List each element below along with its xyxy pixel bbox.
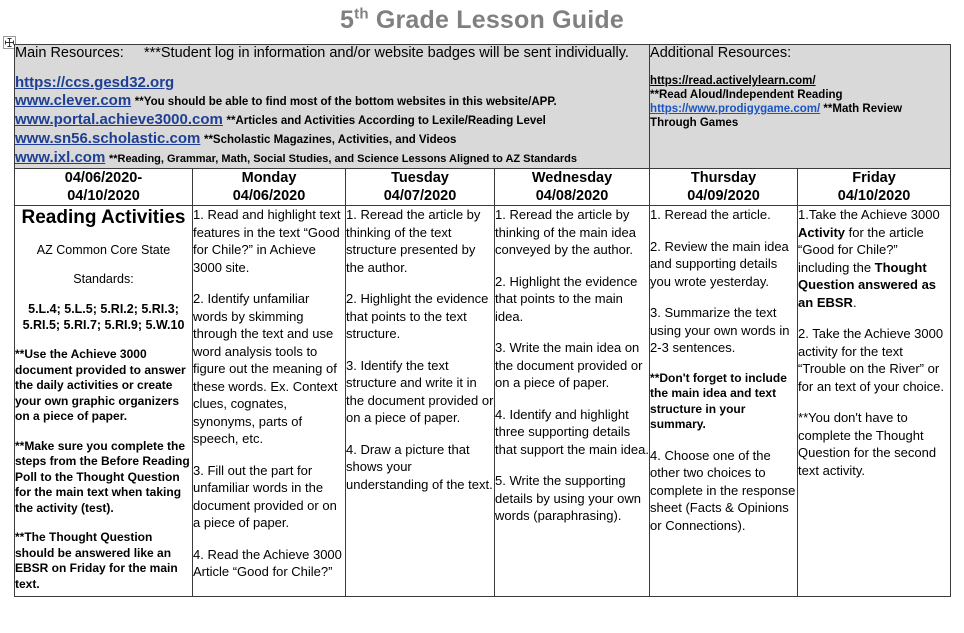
header-week-range-line1: 04/06/2020- [15, 169, 192, 187]
tuesday-cell: 1. Reread the article by thinking of the… [346, 206, 495, 597]
header-monday: Monday 04/06/2020 [193, 169, 346, 206]
resource-link-ixl[interactable]: www.ixl.com [15, 149, 105, 166]
resource-note-scholastic: **Scholastic Magazines, Activities, and … [204, 134, 456, 146]
day-header-row: 04/06/2020- 04/10/2020 Monday 04/06/2020… [15, 169, 951, 206]
tuesday-item-0: 1. Reread the article by thinking of the… [346, 206, 494, 276]
standards-subtitle-line1: AZ Common Core State [15, 243, 192, 258]
monday-item-1: 2. Identify unfamiliar words by skimming… [193, 290, 345, 448]
header-thursday: Thursday 04/09/2020 [650, 169, 798, 206]
page-title-rest: Grade Lesson Guide [369, 6, 624, 34]
thursday-item-1: 2. Review the main idea and supporting d… [650, 238, 797, 291]
additional-note-1: **Read Aloud/Independent Reading [650, 88, 950, 102]
wednesday-item-0: 1. Reread the article by thinking of the… [495, 206, 649, 259]
header-thursday-day: Thursday [650, 169, 797, 187]
header-week-range: 04/06/2020- 04/10/2020 [15, 169, 193, 206]
lesson-guide-table: Main Resources: ***Student log in inform… [14, 44, 951, 597]
resource-link-scholastic[interactable]: www.sn56.scholastic.com [15, 130, 200, 147]
standards-cell: Reading Activities AZ Common Core State … [15, 206, 193, 597]
thursday-cell: 1. Reread the article. 2. Review the mai… [650, 206, 798, 597]
additional-resources-body: https://read.activelylearn.com/ **Read A… [650, 74, 950, 130]
wednesday-item-3: 4. Identify and highlight three supporti… [495, 406, 649, 459]
main-resources-cell: Main Resources: ***Student log in inform… [15, 45, 650, 169]
wednesday-cell: 1. Reread the article by thinking of the… [495, 206, 650, 597]
thursday-item-0: 1. Reread the article. [650, 206, 797, 224]
resource-line-0: https://ccs.gesd32.org [15, 74, 649, 92]
resource-link-ccs-gesd32[interactable]: https://ccs.gesd32.org [15, 74, 174, 91]
standards-note-1: **Make sure you complete the steps from … [15, 439, 192, 517]
resource-line-3: www.sn56.scholastic.com **Scholastic Mag… [15, 130, 649, 149]
monday-item-3: 4. Read the Achieve 3000 Article “Good f… [193, 546, 345, 581]
main-resources-note: ***Student log in information and/or web… [144, 45, 629, 61]
tuesday-item-2: 3. Identify the text structure and write… [346, 357, 494, 427]
resource-line-1: www.clever.com **You should be able to f… [15, 92, 649, 111]
header-tuesday-day: Tuesday [346, 169, 494, 187]
tuesday-item-1: 2. Highlight the evidence that points to… [346, 290, 494, 343]
resource-link-clever[interactable]: www.clever.com [15, 92, 131, 109]
page-title-ordinal: th [354, 6, 369, 23]
thursday-item-3: 4. Choose one of the other two choices t… [650, 447, 797, 535]
header-tuesday: Tuesday 04/07/2020 [346, 169, 495, 206]
resource-note-achieve3000: **Articles and Activities According to L… [227, 115, 546, 127]
additional-note-2: **Math Review [823, 103, 902, 115]
main-resources-heading-line: Main Resources: ***Student log in inform… [15, 45, 649, 62]
header-wednesday-date: 04/08/2020 [495, 187, 649, 205]
friday-item-0: 1.Take the Achieve 3000 Activity for the… [798, 206, 950, 311]
standards-codes-line2: 5.RI.5; 5.RI.7; 5.RI.9; 5.W.10 [23, 318, 185, 332]
tuesday-item-3: 4. Draw a picture that shows your unders… [346, 441, 494, 494]
day-content-row: Reading Activities AZ Common Core State … [15, 206, 951, 597]
wednesday-item-2: 3. Write the main idea on the document p… [495, 339, 649, 392]
header-monday-date: 04/06/2020 [193, 187, 345, 205]
friday-item-2: **You don't have to complete the Thought… [798, 409, 950, 479]
monday-item-2: 3. Fill out the part for unfamiliar word… [193, 462, 345, 532]
wednesday-item-1: 2. Highlight the evidence that points to… [495, 273, 649, 326]
lesson-guide-page: 5th Grade Lesson Guide [0, 0, 964, 633]
header-friday: Friday 04/10/2020 [798, 169, 951, 206]
standards-title: Reading Activities [15, 206, 192, 229]
standards-note-2: **The Thought Question should be answere… [15, 530, 192, 592]
additional-link-row-1: https://read.activelylearn.com/ [650, 74, 950, 88]
additional-resources-heading: Additional Resources: [650, 45, 950, 62]
friday-item-0-part-a: 1.Take the Achieve 3000 [798, 207, 940, 222]
resource-note-clever: **You should be able to find most of the… [135, 96, 557, 108]
resource-link-prodigygame[interactable]: https://www.prodigygame.com/ [650, 103, 820, 115]
friday-cell: 1.Take the Achieve 3000 Activity for the… [798, 206, 951, 597]
header-thursday-date: 04/09/2020 [650, 187, 797, 205]
page-title-number: 5 [340, 6, 354, 34]
standards-codes-line1: 5.L.4; 5.L.5; 5.RI.2; 5.RI.3; [28, 302, 179, 316]
header-wednesday-day: Wednesday [495, 169, 649, 187]
standards-subtitle-line2: Standards: [15, 272, 192, 287]
wednesday-item-4: 5. Write the supporting details by using… [495, 472, 649, 525]
monday-cell: 1. Read and highlight text features in t… [193, 206, 346, 597]
additional-resources-cell: Additional Resources: https://read.activ… [650, 45, 951, 169]
resources-row: Main Resources: ***Student log in inform… [15, 45, 951, 169]
header-friday-date: 04/10/2020 [798, 187, 950, 205]
resource-line-4: www.ixl.com **Reading, Grammar, Math, So… [15, 149, 649, 168]
resource-note-ixl: **Reading, Grammar, Math, Social Studies… [109, 153, 577, 165]
additional-resources-spacer [650, 62, 950, 74]
main-resources-label: Main Resources: [15, 45, 124, 61]
friday-item-1: 2. Take the Achieve 3000 activity for th… [798, 325, 950, 395]
thursday-bold-note: **Don't forget to include the main idea … [650, 371, 797, 433]
resource-link-achieve3000[interactable]: www.portal.achieve3000.com [15, 111, 223, 128]
additional-note-2b: Through Games [650, 116, 950, 130]
page-title: 5th Grade Lesson Guide [0, 0, 964, 38]
header-friday-day: Friday [798, 169, 950, 187]
friday-item-0-part-e: . [853, 295, 857, 310]
header-wednesday: Wednesday 04/08/2020 [495, 169, 650, 206]
monday-item-0: 1. Read and highlight text features in t… [193, 206, 345, 276]
resource-link-activelylearn[interactable]: https://read.activelylearn.com/ [650, 75, 816, 87]
thursday-item-2: 3. Summarize the text using your own wor… [650, 304, 797, 357]
resources-spacer [15, 62, 649, 74]
header-monday-day: Monday [193, 169, 345, 187]
standards-codes: 5.L.4; 5.L.5; 5.RI.2; 5.RI.3; 5.RI.5; 5.… [15, 301, 192, 333]
friday-item-0-activity: Activity [798, 225, 845, 240]
standards-note-0: **Use the Achieve 3000 document provided… [15, 347, 192, 425]
resource-line-2: www.portal.achieve3000.com **Articles an… [15, 111, 649, 130]
header-tuesday-date: 04/07/2020 [346, 187, 494, 205]
header-week-range-line2: 04/10/2020 [15, 187, 192, 205]
additional-link-row-2: https://www.prodigygame.com/ **Math Revi… [650, 102, 950, 116]
